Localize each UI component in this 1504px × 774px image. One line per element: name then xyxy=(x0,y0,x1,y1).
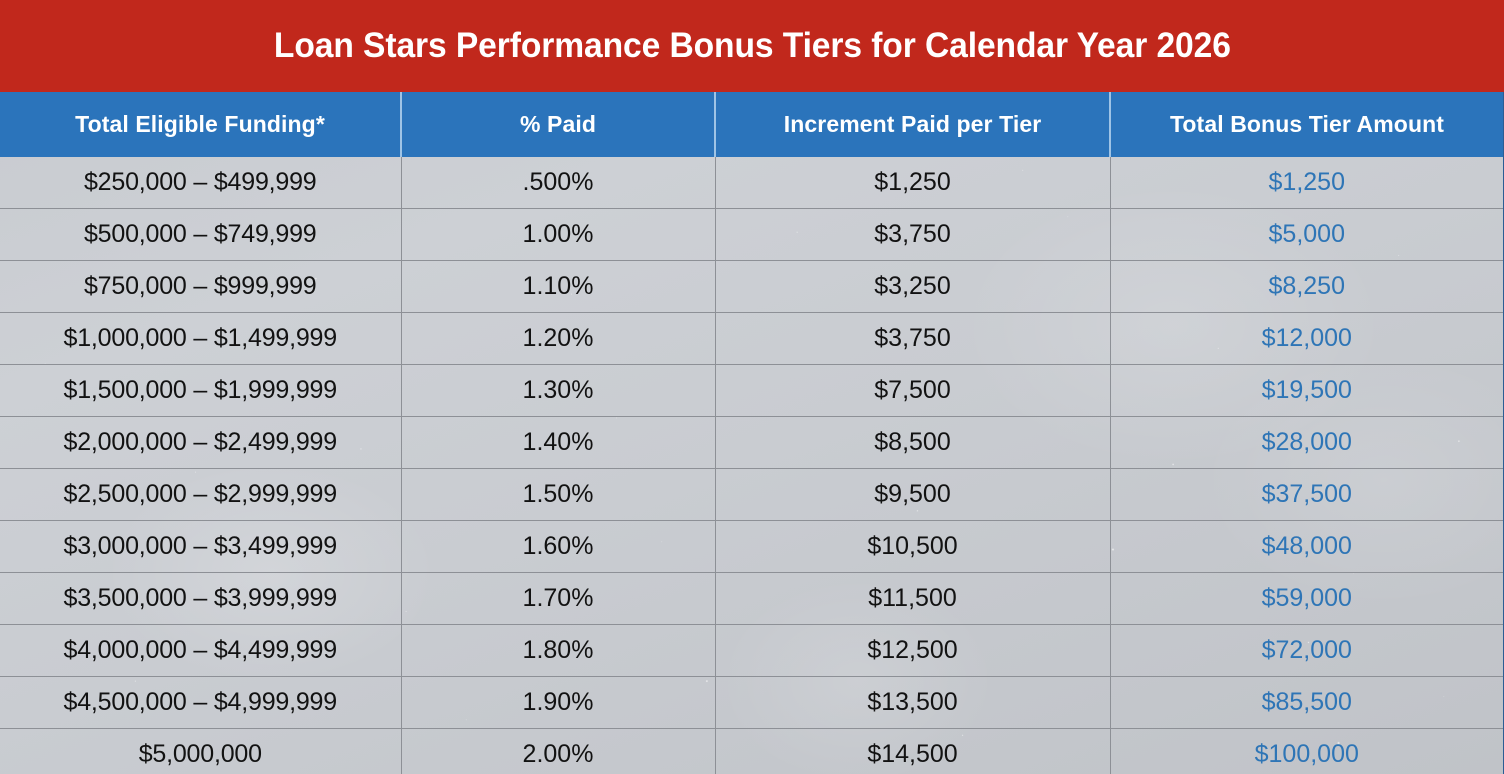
cell-percent-paid: 1.70% xyxy=(401,573,715,625)
cell-percent-paid: 1.50% xyxy=(401,469,715,521)
cell-percent-paid: 1.20% xyxy=(401,313,715,365)
table-row: $250,000 – $499,999.500%$1,250$1,250 xyxy=(0,157,1504,209)
cell-percent-paid: 1.40% xyxy=(401,417,715,469)
table-row: $2,500,000 – $2,999,9991.50%$9,500$37,50… xyxy=(0,469,1504,521)
cell-total-bonus-tier-amount: $12,000 xyxy=(1110,313,1504,365)
cell-total-eligible-funding: $1,500,000 – $1,999,999 xyxy=(0,365,401,417)
cell-total-bonus-tier-amount: $19,500 xyxy=(1110,365,1504,417)
bonus-tier-table: Total Eligible Funding* % Paid Increment… xyxy=(0,92,1504,774)
cell-increment-paid-per-tier: $3,750 xyxy=(715,313,1110,365)
cell-total-eligible-funding: $4,500,000 – $4,999,999 xyxy=(0,677,401,729)
cell-total-bonus-tier-amount: $85,500 xyxy=(1110,677,1504,729)
table-row: $4,000,000 – $4,499,9991.80%$12,500$72,0… xyxy=(0,625,1504,677)
table-row: $500,000 – $749,9991.00%$3,750$5,000 xyxy=(0,209,1504,261)
cell-increment-paid-per-tier: $10,500 xyxy=(715,521,1110,573)
table-row: $1,000,000 – $1,499,9991.20%$3,750$12,00… xyxy=(0,313,1504,365)
cell-total-bonus-tier-amount: $5,000 xyxy=(1110,209,1504,261)
cell-percent-paid: 1.60% xyxy=(401,521,715,573)
cell-increment-paid-per-tier: $1,250 xyxy=(715,157,1110,209)
table-row: $1,500,000 – $1,999,9991.30%$7,500$19,50… xyxy=(0,365,1504,417)
cell-percent-paid: .500% xyxy=(401,157,715,209)
cell-increment-paid-per-tier: $14,500 xyxy=(715,729,1110,774)
cell-increment-paid-per-tier: $11,500 xyxy=(715,573,1110,625)
cell-increment-paid-per-tier: $12,500 xyxy=(715,625,1110,677)
cell-increment-paid-per-tier: $8,500 xyxy=(715,417,1110,469)
cell-increment-paid-per-tier: $9,500 xyxy=(715,469,1110,521)
cell-percent-paid: 1.10% xyxy=(401,261,715,313)
cell-percent-paid: 2.00% xyxy=(401,729,715,774)
cell-percent-paid: 1.90% xyxy=(401,677,715,729)
cell-increment-paid-per-tier: $3,750 xyxy=(715,209,1110,261)
column-header-total-eligible-funding: Total Eligible Funding* xyxy=(0,92,401,157)
page-title: Loan Stars Performance Bonus Tiers for C… xyxy=(274,26,1231,66)
table-header: Total Eligible Funding* % Paid Increment… xyxy=(0,92,1504,157)
cell-total-eligible-funding: $5,000,000 xyxy=(0,729,401,774)
cell-percent-paid: 1.00% xyxy=(401,209,715,261)
cell-total-bonus-tier-amount: $72,000 xyxy=(1110,625,1504,677)
cell-total-bonus-tier-amount: $100,000 xyxy=(1110,729,1504,774)
cell-total-bonus-tier-amount: $1,250 xyxy=(1110,157,1504,209)
cell-total-bonus-tier-amount: $37,500 xyxy=(1110,469,1504,521)
cell-total-bonus-tier-amount: $59,000 xyxy=(1110,573,1504,625)
cell-total-eligible-funding: $2,000,000 – $2,499,999 xyxy=(0,417,401,469)
table-row: $2,000,000 – $2,499,9991.40%$8,500$28,00… xyxy=(0,417,1504,469)
table-body: $250,000 – $499,999.500%$1,250$1,250$500… xyxy=(0,157,1504,774)
column-header-increment-paid-per-tier: Increment Paid per Tier xyxy=(715,92,1110,157)
bonus-tier-slide: Loan Stars Performance Bonus Tiers for C… xyxy=(0,0,1504,774)
cell-total-eligible-funding: $2,500,000 – $2,999,999 xyxy=(0,469,401,521)
cell-total-eligible-funding: $3,500,000 – $3,999,999 xyxy=(0,573,401,625)
cell-total-eligible-funding: $500,000 – $749,999 xyxy=(0,209,401,261)
column-header-percent-paid: % Paid xyxy=(401,92,715,157)
table-row: $5,000,0002.00%$14,500$100,000 xyxy=(0,729,1504,774)
table-header-row: Total Eligible Funding* % Paid Increment… xyxy=(0,92,1504,157)
cell-increment-paid-per-tier: $13,500 xyxy=(715,677,1110,729)
cell-percent-paid: 1.30% xyxy=(401,365,715,417)
column-header-total-bonus-tier-amount: Total Bonus Tier Amount xyxy=(1110,92,1504,157)
table-row: $3,000,000 – $3,499,9991.60%$10,500$48,0… xyxy=(0,521,1504,573)
cell-total-eligible-funding: $1,000,000 – $1,499,999 xyxy=(0,313,401,365)
cell-percent-paid: 1.80% xyxy=(401,625,715,677)
cell-total-bonus-tier-amount: $8,250 xyxy=(1110,261,1504,313)
cell-increment-paid-per-tier: $3,250 xyxy=(715,261,1110,313)
cell-increment-paid-per-tier: $7,500 xyxy=(715,365,1110,417)
cell-total-bonus-tier-amount: $28,000 xyxy=(1110,417,1504,469)
table-row: $3,500,000 – $3,999,9991.70%$11,500$59,0… xyxy=(0,573,1504,625)
table-row: $4,500,000 – $4,999,9991.90%$13,500$85,5… xyxy=(0,677,1504,729)
cell-total-bonus-tier-amount: $48,000 xyxy=(1110,521,1504,573)
title-banner: Loan Stars Performance Bonus Tiers for C… xyxy=(0,0,1504,92)
cell-total-eligible-funding: $750,000 – $999,999 xyxy=(0,261,401,313)
table-row: $750,000 – $999,9991.10%$3,250$8,250 xyxy=(0,261,1504,313)
cell-total-eligible-funding: $3,000,000 – $3,499,999 xyxy=(0,521,401,573)
cell-total-eligible-funding: $250,000 – $499,999 xyxy=(0,157,401,209)
cell-total-eligible-funding: $4,000,000 – $4,499,999 xyxy=(0,625,401,677)
